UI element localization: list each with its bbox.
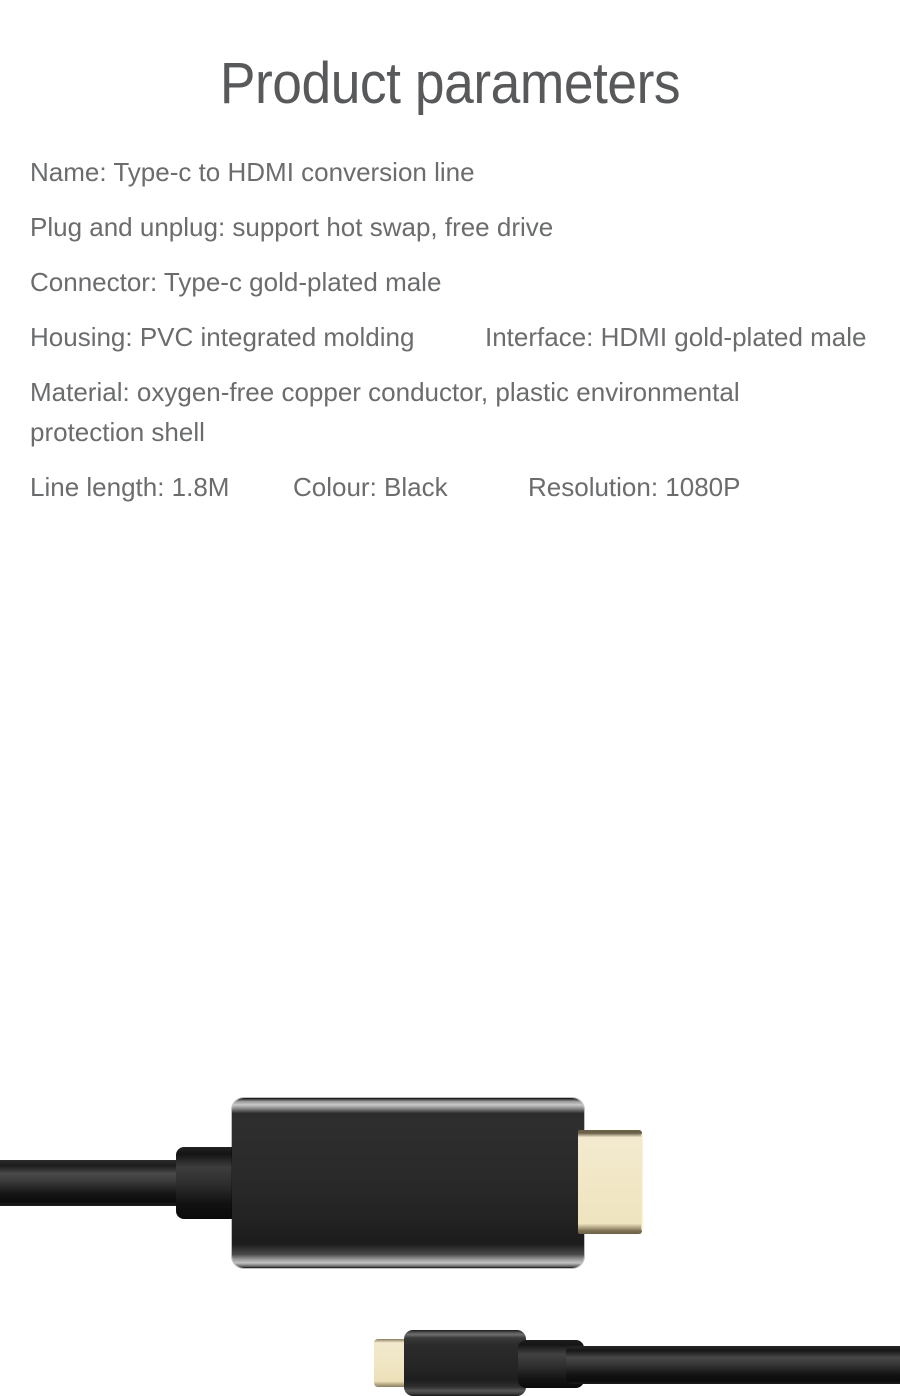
spec-plug-and-unplug: Plug and unplug: support hot swap, free … [30, 211, 553, 243]
cable-segment-lower [566, 1346, 900, 1384]
hdmi-gold-plated-contact [578, 1130, 642, 1234]
strain-relief-upper [176, 1147, 240, 1219]
spec-connector: Connector: Type-c gold-plated male [30, 266, 441, 298]
spec-housing: Housing: PVC integrated molding [30, 321, 414, 353]
spec-colour: Colour: Black [293, 471, 448, 503]
spec-resolution: Resolution: 1080P [528, 471, 740, 503]
spec-row-plug-and-unplug: Plug and unplug: support hot swap, free … [30, 211, 890, 266]
spec-material: Material: oxygen-free copper conductor, … [30, 376, 740, 408]
spec-row-name: Name: Type-c to HDMI conversion line [30, 156, 890, 211]
spec-row-material: Material: oxygen-free copper conductor, … [30, 376, 890, 431]
product-photo [0, 540, 900, 900]
spec-line-length: Line length: 1.8M [30, 471, 229, 503]
spec-row-housing-interface: Housing: PVC integrated molding Interfac… [30, 321, 890, 376]
type-c-connector-housing [404, 1330, 526, 1396]
spec-row-length-colour-resolution: Line length: 1.8M Colour: Black Resoluti… [30, 471, 890, 526]
spec-name: Name: Type-c to HDMI conversion line [30, 156, 475, 188]
cable-segment-upper [0, 1160, 204, 1206]
spec-interface: Interface: HDMI gold-plated male [485, 321, 867, 353]
product-parameters-list: Name: Type-c to HDMI conversion line Plu… [30, 156, 890, 526]
page-title: Product parameters [36, 52, 864, 116]
hdmi-connector-housing [232, 1098, 584, 1268]
spec-row-connector: Connector: Type-c gold-plated male [30, 266, 890, 321]
spec-material-continuation: protection shell [30, 416, 205, 448]
